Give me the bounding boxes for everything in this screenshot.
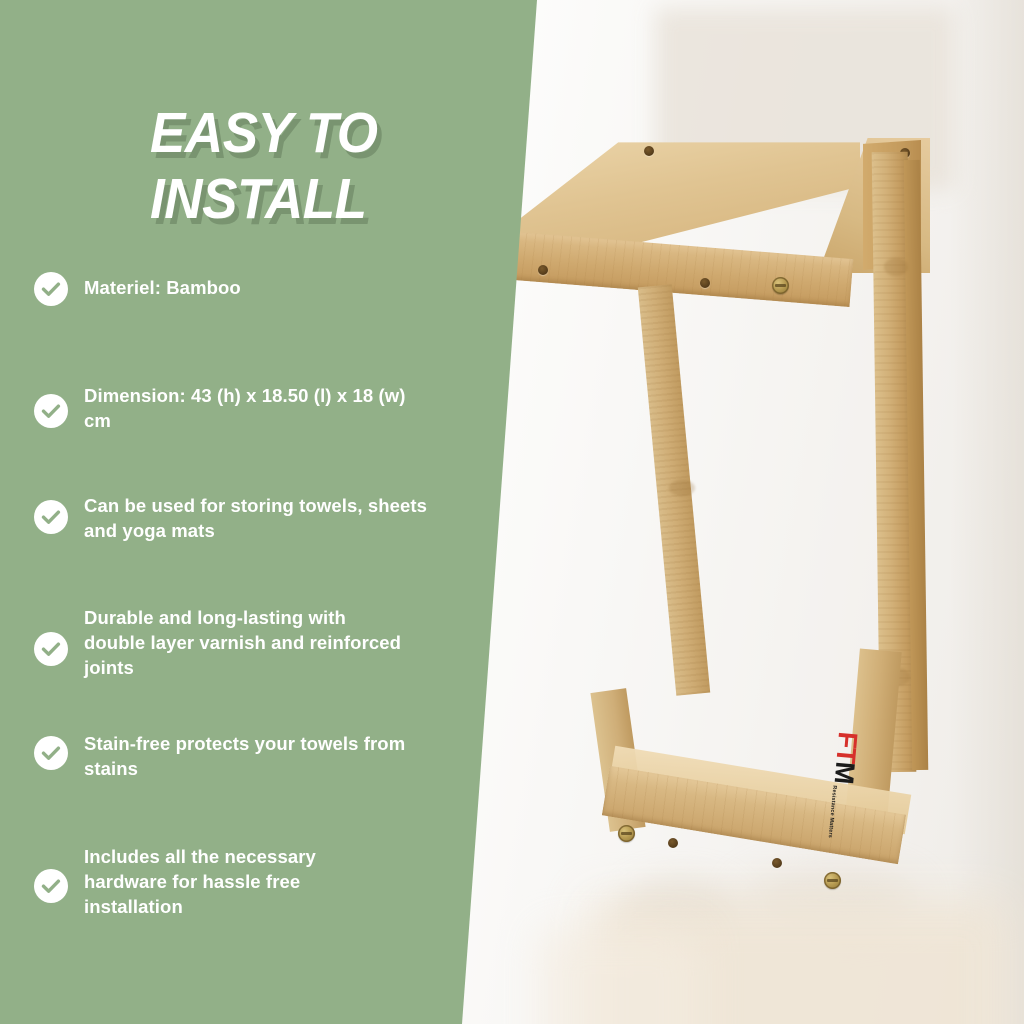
check-circle-icon: [34, 500, 68, 534]
check-circle-icon-svg: [34, 272, 68, 306]
check-circle-icon: [34, 736, 68, 770]
wood-knot-front-post: [669, 480, 695, 496]
feature-item-usage: Can be used for storing towels, sheets a…: [34, 490, 434, 602]
screw-bottom-left: [618, 825, 635, 842]
page-title-line-2: INSTALL: [150, 166, 485, 232]
feature-item-hardware: Includes all the necessary hardware for …: [34, 841, 434, 919]
page-title: EASY TO INSTALL: [150, 100, 485, 232]
feature-text: Durable and long-lasting with double lay…: [84, 602, 404, 680]
feature-item-dimension: Dimension: 43 (h) x 18.50 (l) x 18 (w) c…: [34, 380, 434, 490]
page-title-line-1: EASY TO: [150, 100, 485, 166]
check-circle-icon: [34, 272, 68, 306]
screw-hole-bottom-2: [772, 858, 782, 868]
check-circle-icon-svg: [34, 394, 68, 428]
feature-text: Materiel: Bamboo: [84, 272, 241, 300]
check-circle-icon-svg: [34, 500, 68, 534]
screw-top-right: [772, 277, 789, 294]
check-circle-icon: [34, 394, 68, 428]
feature-item-stain-free: Stain-free protects your towels from sta…: [34, 728, 434, 841]
feature-text: Can be used for storing towels, sheets a…: [84, 490, 429, 543]
feature-text: Dimension: 43 (h) x 18.50 (l) x 18 (w) c…: [84, 380, 409, 433]
infographic-canvas: FT M Resistance Matters EASY TO INSTALL …: [0, 0, 1024, 1024]
screw-bottom-right: [824, 872, 841, 889]
screw-hole-top-back-left: [644, 146, 654, 156]
feature-item-materiel: Materiel: Bamboo: [34, 272, 434, 380]
check-circle-icon-svg: [34, 632, 68, 666]
screw-hole-top-1: [538, 265, 548, 275]
feature-list: Materiel: Bamboo Dimension: 43 (h) x 18.…: [34, 272, 434, 919]
screw-hole-bottom-1: [668, 838, 678, 848]
wood-knot-right-post-upper: [884, 258, 908, 276]
logo-mark-red: FT: [831, 731, 861, 764]
feature-text: Includes all the necessary hardware for …: [84, 841, 374, 919]
check-circle-icon: [34, 632, 68, 666]
logo-mark-black: M: [830, 761, 859, 785]
feature-text: Stain-free protects your towels from sta…: [84, 728, 424, 781]
feature-item-durability: Durable and long-lasting with double lay…: [34, 602, 434, 728]
check-circle-icon-svg: [34, 869, 68, 903]
check-circle-icon-svg: [34, 736, 68, 770]
screw-hole-top-2: [700, 278, 710, 288]
check-circle-icon: [34, 869, 68, 903]
